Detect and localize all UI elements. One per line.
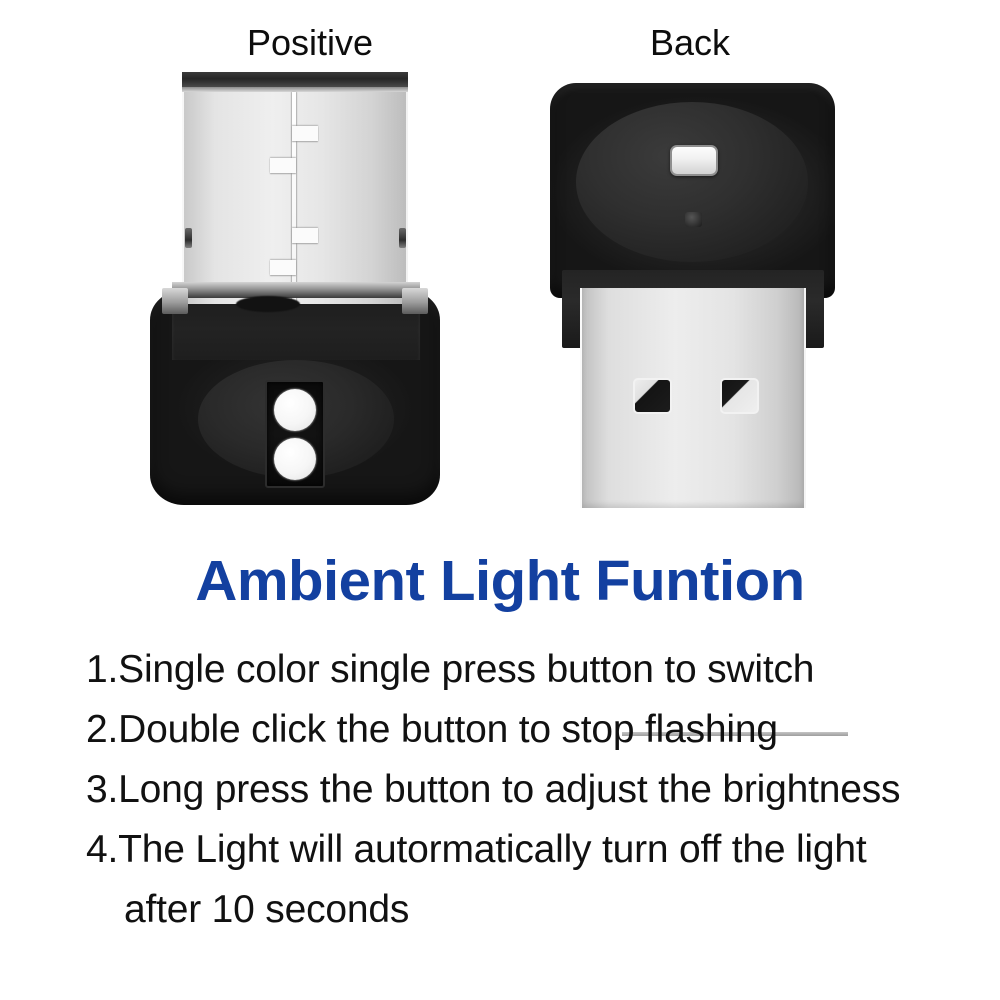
product-image-back-view — [540, 60, 850, 510]
instruction-item: 4.The Light will autormatically turn off… — [86, 820, 966, 880]
usb-latch-hole-left — [633, 378, 672, 414]
shell-tab-right — [402, 288, 428, 314]
shell-dimple-left — [185, 228, 192, 248]
instruction-item: 1.Single color single press button to sw… — [86, 640, 966, 700]
shell-dimple-right — [399, 228, 406, 248]
press-button[interactable] — [670, 145, 718, 176]
instruction-item-continuation: after 10 seconds — [86, 880, 966, 940]
metal-shell-top-edge — [182, 72, 408, 87]
seam-notch-lower-left — [270, 260, 296, 275]
seam-notch-upper-right — [292, 126, 318, 141]
view-label-back: Back — [590, 22, 790, 64]
led-lens-bottom — [274, 438, 316, 480]
page-title: Ambient Light Funtion — [0, 548, 1000, 614]
view-label-positive: Positive — [205, 22, 415, 64]
metal-shell-bottom-lip — [172, 282, 420, 298]
seam-notch-upper-left — [270, 158, 296, 173]
indicator-dot — [685, 212, 702, 227]
seam-notch-lower-right — [292, 228, 318, 243]
shell-tab-left — [162, 288, 188, 314]
led-window — [265, 380, 325, 488]
instruction-item: 3.Long press the button to adjust the br… — [86, 760, 966, 820]
usb-latch-hole-right — [720, 378, 759, 414]
shell-shadow-detail — [236, 296, 300, 312]
product-image-positive-view — [140, 60, 450, 510]
housing-oval-face — [576, 102, 808, 262]
usb-a-connector — [580, 288, 806, 508]
instruction-item: 2.Double click the button to stop flashi… — [86, 700, 966, 760]
led-lens-top — [274, 389, 316, 431]
product-photo-area: Positive Back — [0, 0, 1000, 540]
instruction-list: 1.Single color single press button to sw… — [86, 640, 966, 940]
